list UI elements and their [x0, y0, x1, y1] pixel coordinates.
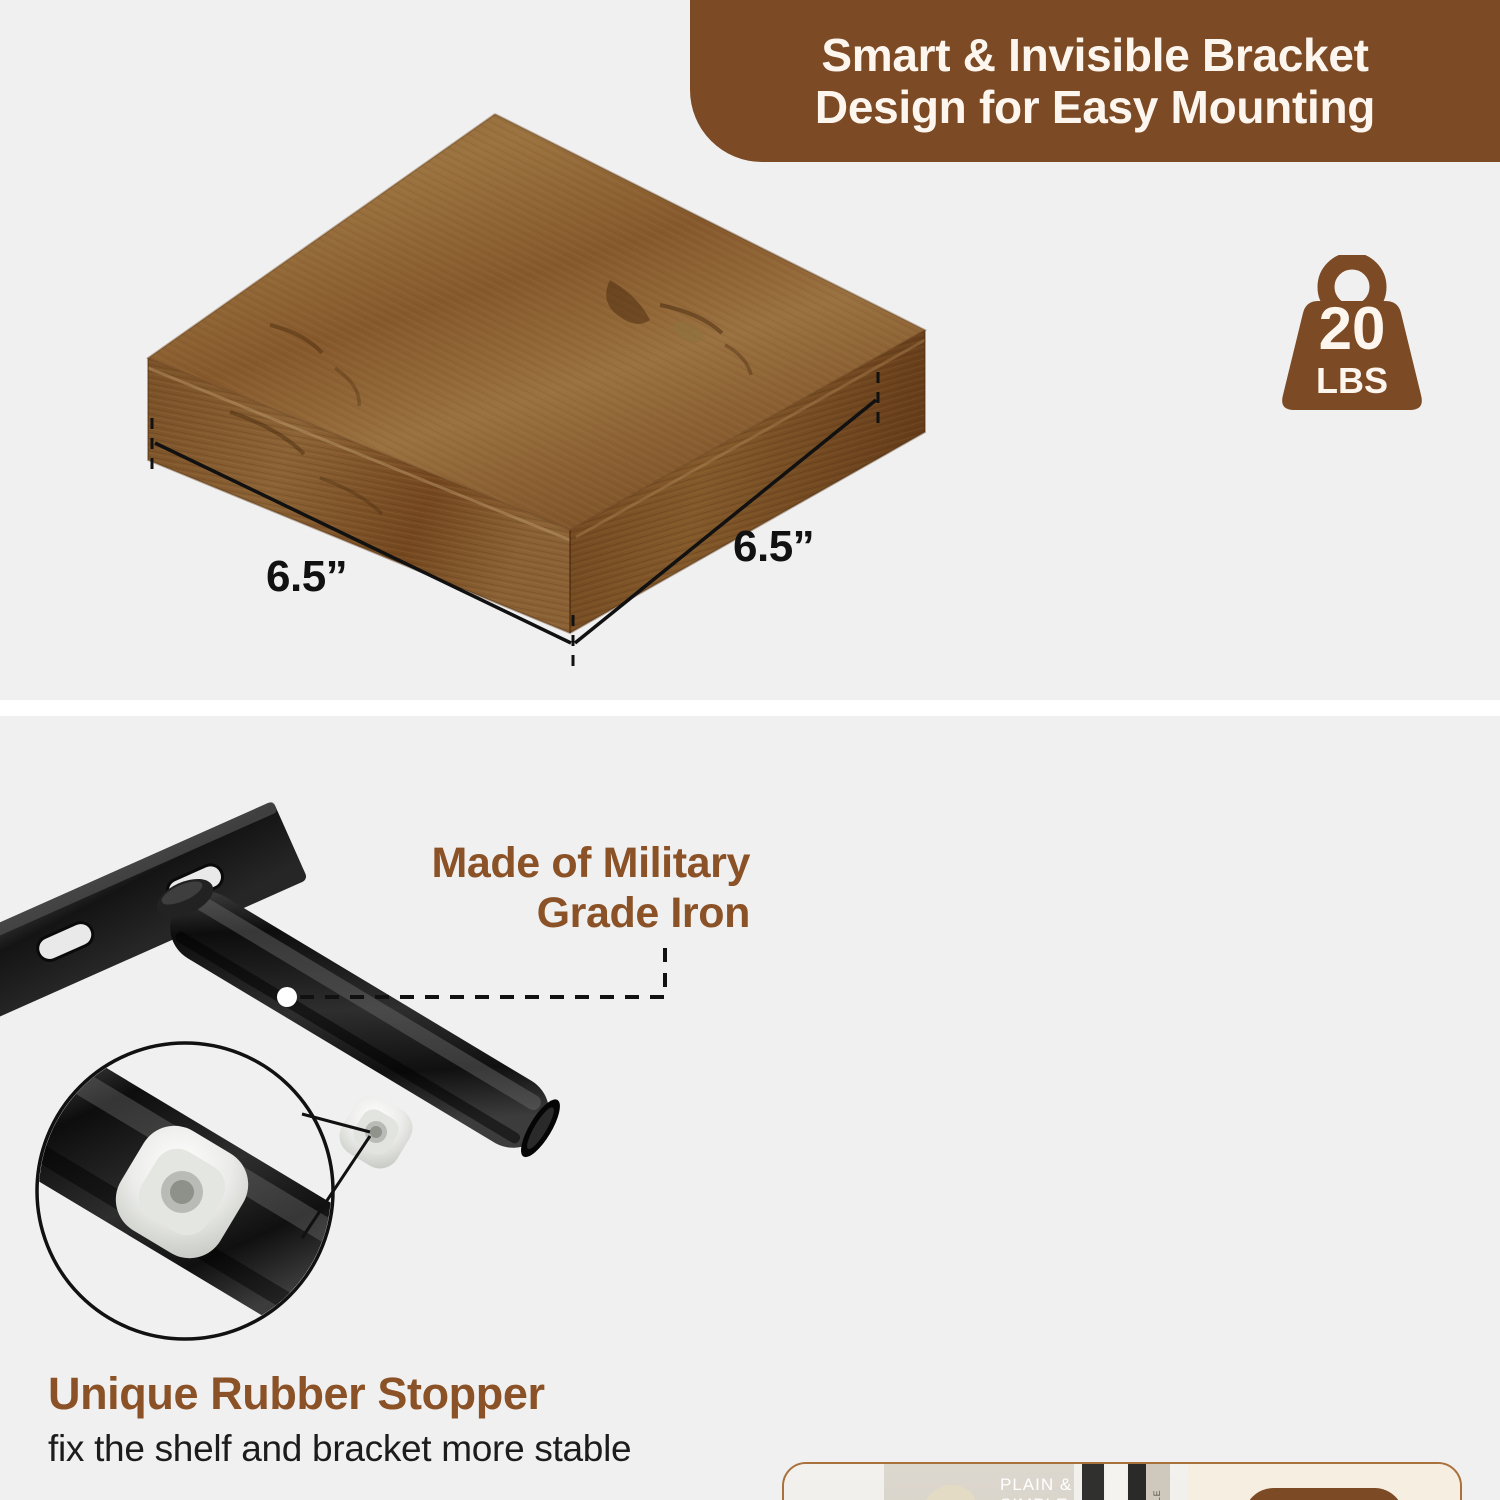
weight-unit: LBS: [1278, 363, 1426, 399]
header-banner: Smart & Invisible Bracket Design for Eas…: [690, 0, 1500, 162]
dimension-label-left: 6.5”: [266, 552, 347, 602]
comparison-card-ours: PLAIN & SIMPLE KIM BRENNEMAN NO REST FOR…: [782, 1462, 1462, 1500]
product-infographic: 6.5” 6.5” 20 LBS Smart & Invisible Brack…: [0, 0, 1500, 1500]
military-grade-line1: Made of Military: [350, 838, 750, 888]
badge-ours: Ours: [1244, 1488, 1404, 1500]
rubber-stopper-subtitle: fix the shelf and bracket more stable: [48, 1428, 631, 1470]
svg-text:SIMPLE: SIMPLE: [1000, 1495, 1068, 1500]
section-divider: [0, 700, 1500, 716]
svg-text:PLAIN &: PLAIN &: [1000, 1475, 1072, 1494]
military-grade-title: Made of Military Grade Iron: [350, 838, 750, 939]
rubber-stopper-title: Unique Rubber Stopper: [48, 1368, 545, 1420]
thick-shelf-books-photo: PLAIN & SIMPLE KIM BRENNEMAN NO REST FOR…: [784, 1464, 1188, 1500]
header-title-line2: Design for Easy Mounting: [815, 81, 1375, 133]
weight-value: 20: [1278, 299, 1426, 359]
comparison-info-ours: Ours DEEPER & THICKER Create more storag…: [1188, 1464, 1460, 1500]
svg-text:AGEMENT PLAIN & SIMPLE: AGEMENT PLAIN & SIMPLE: [1152, 1490, 1162, 1500]
military-grade-line2: Grade Iron: [350, 888, 750, 938]
weight-icon: 20 LBS: [1278, 255, 1426, 420]
header-title-line1: Smart & Invisible Bracket: [821, 29, 1368, 81]
top-section: 6.5” 6.5” 20 LBS Smart & Invisible Brack…: [0, 0, 1500, 700]
dimension-label-right: 6.5”: [733, 522, 814, 572]
